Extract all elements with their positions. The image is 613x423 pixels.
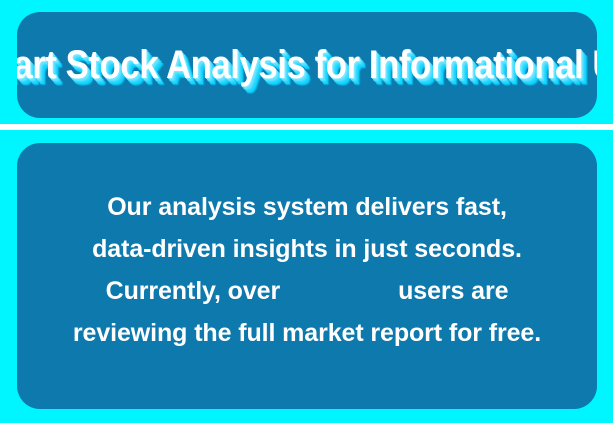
body-line-1: Our analysis system delivers fast, xyxy=(17,186,597,228)
counter-line-prefix: Currently, over xyxy=(106,277,280,305)
page-title: Smart Stock Analysis for Informational U… xyxy=(17,45,597,85)
header-card: Smart Stock Analysis for Informational U… xyxy=(17,12,597,118)
body-line-3: Currently, overusers are xyxy=(17,270,597,312)
body-copy: Our analysis system delivers fast, data-… xyxy=(17,186,597,354)
body-card: Our analysis system delivers fast, data-… xyxy=(17,143,597,409)
counter-line-suffix: users are xyxy=(398,277,508,305)
body-line-4: reviewing the full market report for fre… xyxy=(17,312,597,354)
promo-page: Smart Stock Analysis for Informational U… xyxy=(0,0,613,423)
body-line-2: data-driven insights in just seconds. xyxy=(17,228,597,270)
section-divider xyxy=(0,124,613,130)
